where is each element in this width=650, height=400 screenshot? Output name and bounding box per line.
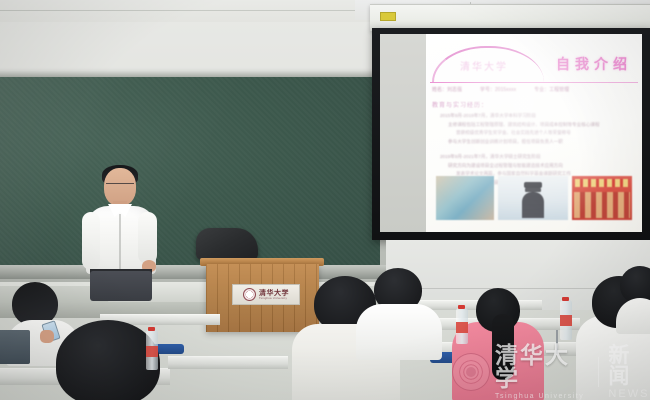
slide-bullet: 2015年9月-2019年7月，清华大学本科学习阶段 <box>440 112 638 121</box>
student-center-right <box>452 288 544 400</box>
slide-bullet: 参与大学生创新创业训练计划项目，担任项目负责人一职 <box>448 138 638 147</box>
slide-section-heading: 教育与实习经历： <box>432 100 488 109</box>
bottle-label <box>560 315 572 326</box>
bottle-cap <box>562 297 569 301</box>
lectern-plaque: 清华大学 Tsinghua University <box>232 284 300 305</box>
slide-university-logo: 清华大学 <box>460 58 530 72</box>
student-center <box>356 268 442 356</box>
tsinghua-seal-icon <box>243 288 256 301</box>
bottle-cap <box>458 305 465 309</box>
presenter-shirt-placket <box>119 214 121 270</box>
glasses-icon <box>106 183 134 190</box>
laptop-computer[interactable] <box>0 330 30 364</box>
slide-meta-major: 专业：工程管理 <box>534 86 569 93</box>
bottle-label <box>456 322 468 333</box>
chair-leg <box>556 330 558 354</box>
slide-photo-graduation <box>498 176 568 220</box>
classroom-desk-row <box>168 356 288 369</box>
presenter-right-arm <box>138 212 157 264</box>
student-torso <box>356 304 442 360</box>
presenter-trousers <box>90 271 152 301</box>
chalkboard-top-rail <box>0 70 386 77</box>
slide-divider-rule <box>430 82 638 83</box>
student-head <box>56 320 160 400</box>
slide-photo-indoor <box>436 176 494 220</box>
student-torso <box>616 298 650 334</box>
presenter-left-arm <box>82 212 100 270</box>
presentation-slide: 清华大学 自我介绍 姓名：刘志强 学号：2015xxxx 专业：工程管理 教育与… <box>426 34 642 232</box>
slide-meta-name: 姓名：刘志强 <box>432 86 462 93</box>
student-ponytail <box>492 314 514 380</box>
screen-roller-casing <box>370 4 650 31</box>
student-far-right <box>620 266 650 330</box>
slide-meta-row: 姓名：刘志强 学号：2015xxxx 专业：工程管理 <box>432 86 638 93</box>
slide-bullet: 研究方向为建设项目全过程管理与智能建造技术应用方向 <box>448 162 638 171</box>
slide-photo-group <box>572 176 632 220</box>
lectern-plaque-en: Tsinghua University <box>259 297 289 300</box>
slide-meta-id: 学号：2015xxxx <box>480 86 516 93</box>
bottle-cap <box>148 327 155 331</box>
classroom-photograph: 清华大学 自我介绍 姓名：刘志强 学号：2015xxxx 专业：工程管理 教育与… <box>0 0 650 400</box>
slide-title: 自我介绍 <box>556 54 632 74</box>
slide-bullet: 2019年9月-2021年7月，清华大学硕士研究生阶段 <box>440 153 638 162</box>
chalkboard <box>0 70 386 282</box>
presenter <box>80 168 164 300</box>
slide-bullet: 曾获校级优秀学生奖学金、社会实践先进个人等荣誉称号 <box>456 129 638 138</box>
bottle-label <box>146 346 158 357</box>
roller-label-sticker <box>380 12 396 21</box>
slide-photo-strip <box>436 176 632 220</box>
black-bag <box>196 228 258 260</box>
slide-bullet: 主修课程包括工程管理原理、建筑结构设计、项目成本控制等专业核心课程 <box>448 121 638 130</box>
student-hand <box>40 330 54 343</box>
chalkboard-glare <box>0 77 380 265</box>
screen-unlit-band <box>380 34 426 232</box>
